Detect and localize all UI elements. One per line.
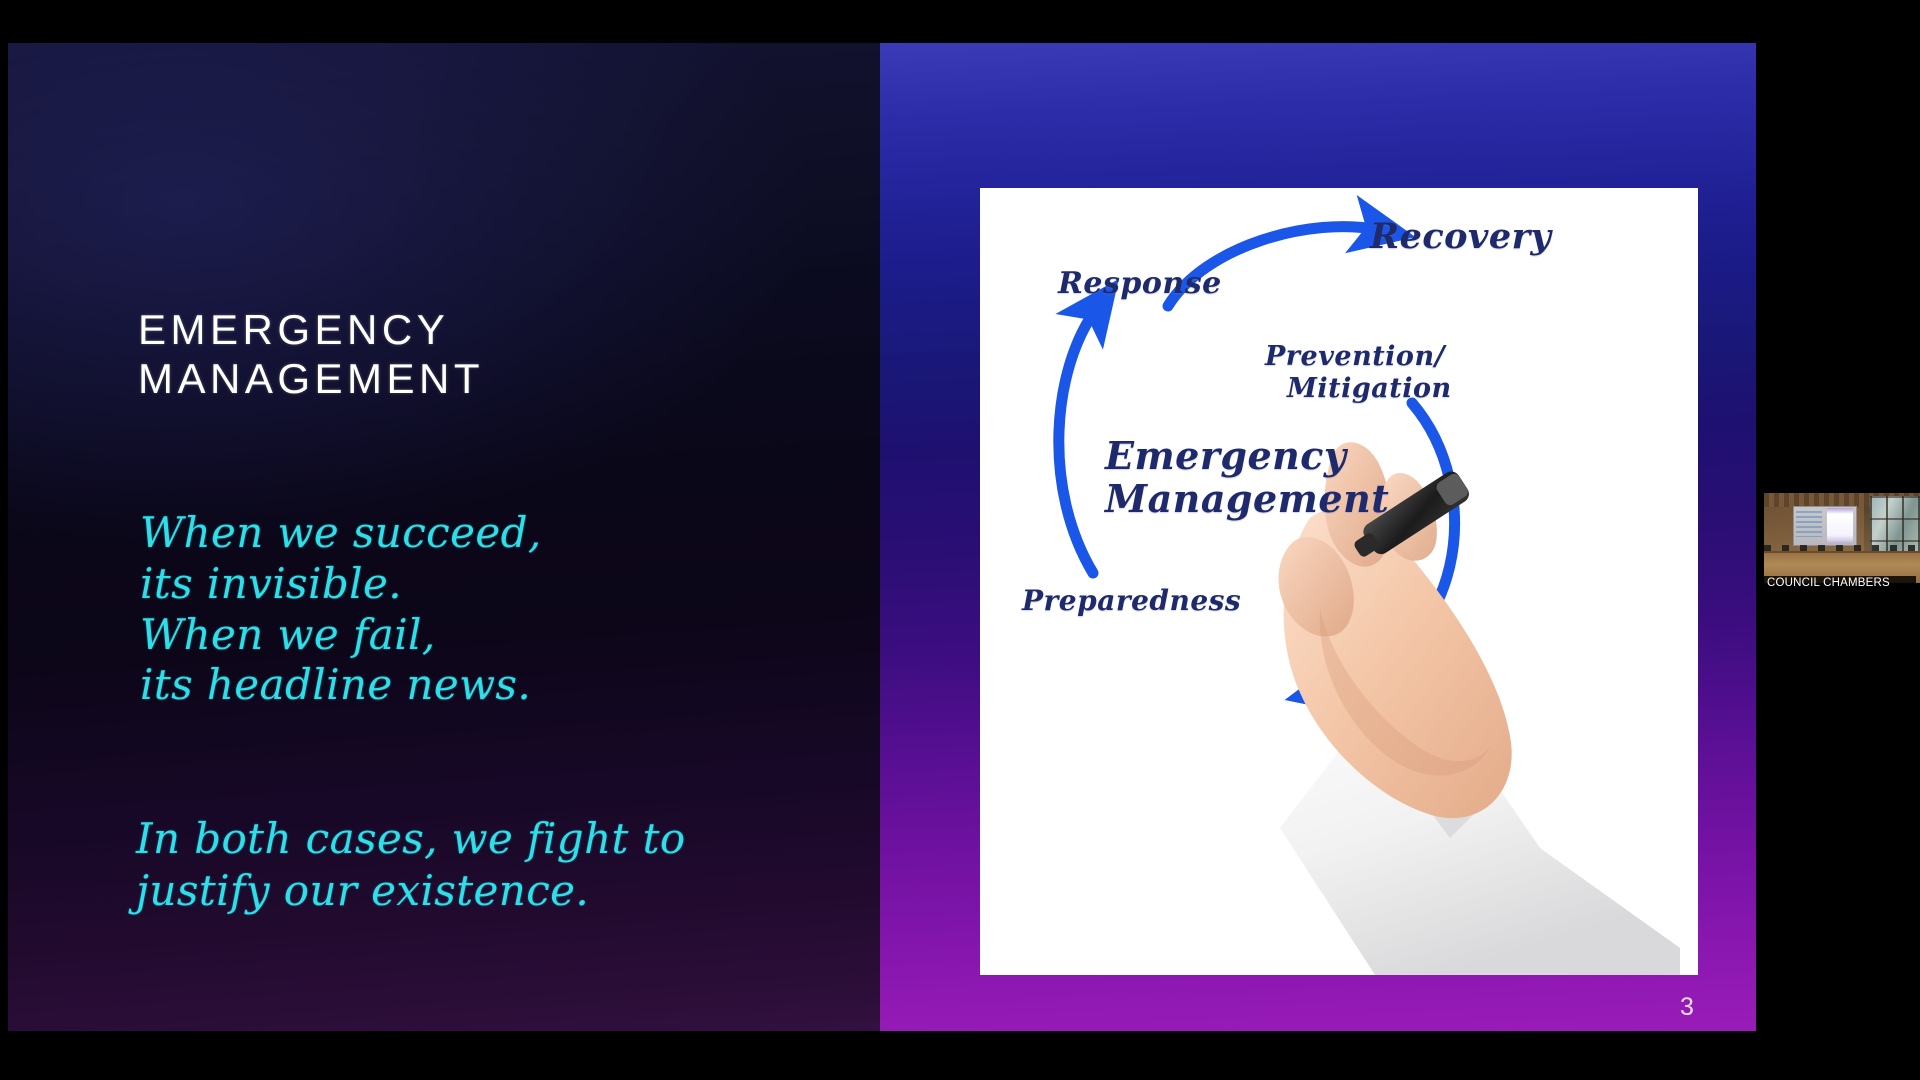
- slide-title: EMERGENCY MANAGEMENT: [138, 305, 758, 403]
- slide-title-line1: EMERGENCY: [138, 306, 449, 353]
- diagram-center-label: Emergency Management: [1105, 435, 1389, 520]
- diagram-label-recovery: Recovery: [1370, 216, 1551, 257]
- video-thumbnail-council-chambers[interactable]: COUNCIL CHAMBERS: [1760, 484, 1920, 590]
- diagram-label-prevention-line2: Mitigation: [1265, 373, 1452, 405]
- diagram-center-line2: Management: [1105, 476, 1389, 521]
- diagram-image: Recovery Response Prevention/ Mitigation…: [980, 188, 1698, 975]
- quote-line-1: When we succeed,: [140, 508, 780, 559]
- video-caption-label: COUNCIL CHAMBERS: [1764, 576, 1916, 590]
- video-feed[interactable]: [1764, 493, 1920, 583]
- projection-screen-text: [1796, 511, 1822, 537]
- diagram-center-line1: Emergency: [1105, 433, 1346, 478]
- diagram-label-prevention-line1: Prevention/: [1265, 341, 1445, 372]
- quote-line-2: its invisible.: [140, 559, 780, 610]
- closing-line-1: In both cases, we fight to: [136, 813, 796, 865]
- projection-screen-document: [1827, 508, 1853, 542]
- diagram-label-response: Response: [1058, 266, 1222, 301]
- slide-closing-statement: In both cases, we fight to justify our e…: [136, 813, 796, 917]
- diagram-label-prevention-mitigation: Prevention/ Mitigation: [1265, 341, 1452, 405]
- screen-canvas: Recovery Response Prevention/ Mitigation…: [0, 0, 1920, 1080]
- diagram-label-preparedness: Preparedness: [1022, 584, 1241, 617]
- closing-line-2: justify our existence.: [136, 865, 796, 917]
- quote-line-3: When we fail,: [140, 610, 780, 661]
- slide-page-number: 3: [1680, 993, 1695, 1022]
- quote-line-4: its headline news.: [140, 660, 780, 711]
- slide-quote: When we succeed, its invisible. When we …: [140, 508, 780, 711]
- presentation-slide: Recovery Response Prevention/ Mitigation…: [8, 43, 1756, 1031]
- slide-title-line2: MANAGEMENT: [138, 355, 484, 402]
- emergency-management-cycle-svg: [980, 188, 1698, 975]
- arrow-preparedness-to-response: [1059, 308, 1097, 573]
- hand-with-marker-illustration: [1279, 442, 1680, 975]
